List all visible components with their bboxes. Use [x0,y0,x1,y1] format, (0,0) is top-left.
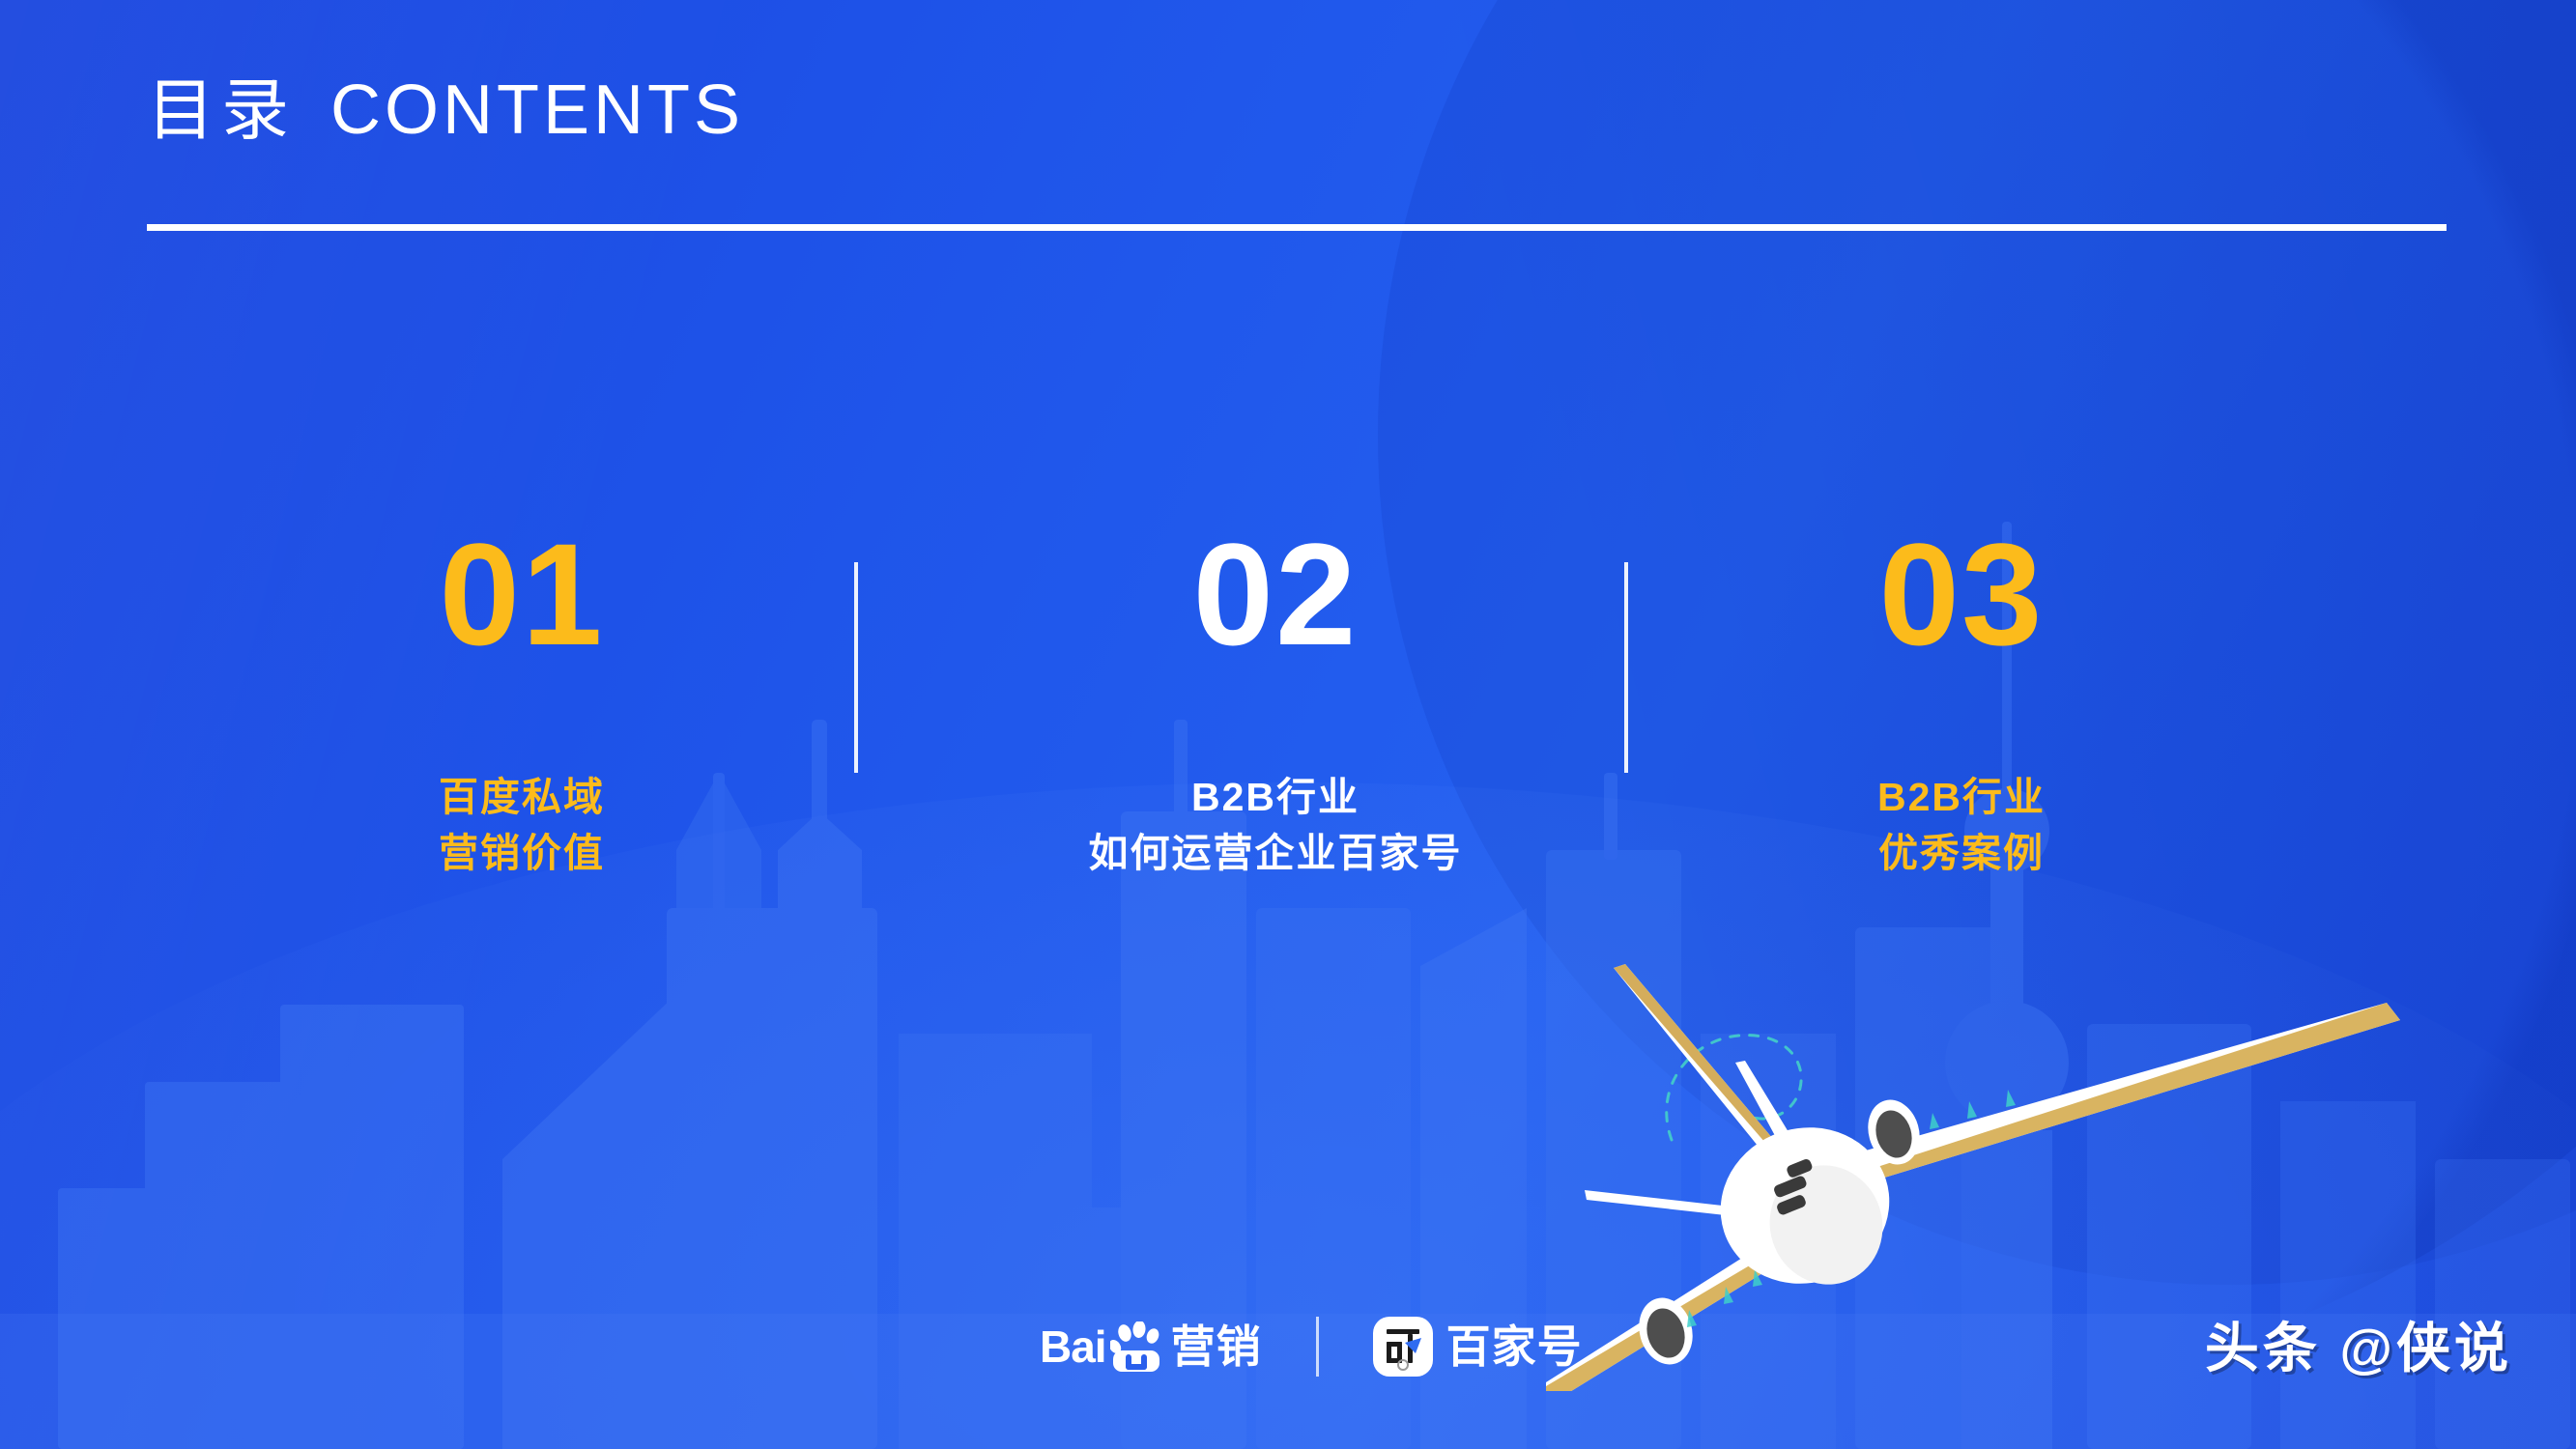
section-number-02: 02 [966,522,1585,667]
page-title-en: CONTENTS [330,75,744,145]
section-label-01-line1: 百度私域 [319,769,725,825]
section-label-02-line2: 如何运营企业百家号 [966,825,1585,881]
section-number-03: 03 [1759,522,2164,667]
contents-sections: 01 百度私域 营销价值 02 B2B行业 如何运营企业百家号 03 B2B行业… [0,522,2576,1024]
contents-item-03[interactable]: 03 B2B行业 优秀案例 [1759,522,2164,881]
footer-logos: Bai 营销 [1040,1317,1583,1377]
baidu-logo-chinese: 营销 [1171,1324,1262,1369]
baijiahao-logo-chinese: 百家号 [1446,1324,1583,1369]
baidu-marketing-logo: Bai 营销 [1040,1321,1262,1372]
section-label-02: B2B行业 如何运营企业百家号 [966,769,1585,881]
page-title-cn: 目录 [147,76,296,144]
section-divider-2 [1624,562,1628,773]
baidu-paw-icon [1110,1321,1164,1372]
footer-logo-separator [1316,1317,1319,1377]
section-label-01: 百度私域 营销价值 [319,769,725,881]
section-label-02-line1: B2B行业 [966,769,1585,825]
contents-item-02[interactable]: 02 B2B行业 如何运营企业百家号 [966,522,1585,881]
section-divider-1 [854,562,858,773]
baijiahao-badge-icon [1373,1317,1433,1377]
section-label-01-line2: 营销价值 [319,825,725,881]
section-label-03-line2: 优秀案例 [1759,825,2164,881]
section-label-03-line1: B2B行业 [1759,769,2164,825]
contents-item-01[interactable]: 01 百度私域 营销价值 [319,522,725,881]
section-label-03: B2B行业 优秀案例 [1759,769,2164,881]
section-number-01: 01 [319,522,725,667]
header-divider [147,224,2447,231]
baijiahao-logo: 百家号 [1373,1317,1583,1377]
baidu-logo-latin: Bai [1040,1324,1106,1369]
watermark: 头条 @侠说 [2205,1321,2512,1376]
slide-header: 目录 CONTENTS [147,75,744,145]
presentation-slide: 目录 CONTENTS 01 百度私域 营销价值 02 B2B行业 如何运营企业… [0,0,2576,1449]
